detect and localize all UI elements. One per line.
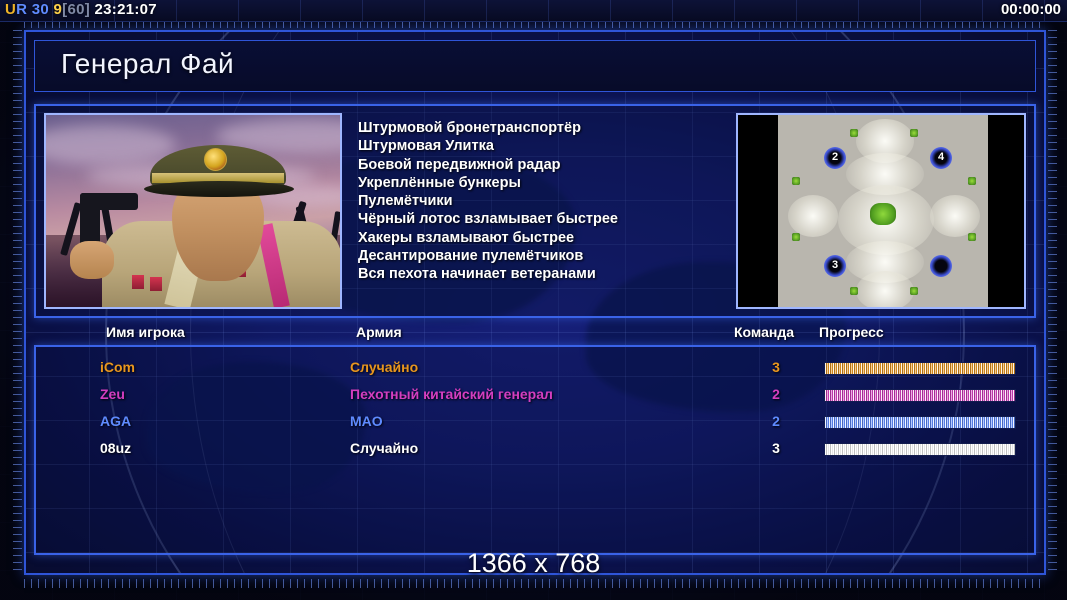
- map-preview: 2 4 3: [736, 113, 1026, 309]
- map-supply-icon: [792, 233, 800, 241]
- player-team: 3: [758, 359, 794, 375]
- topbar-clock: 23:21:07: [95, 1, 157, 18]
- general-info-row: Штурмовой бронетранспортёр Штурмовая Ули…: [34, 104, 1036, 318]
- loading-panel: Генерал Фай: [24, 30, 1046, 575]
- player-table-body: iCom Случайно 3 Zeu Пехотный китайский г…: [34, 345, 1036, 555]
- portrait-medal-1-icon: [132, 275, 144, 289]
- column-header-army: Армия: [356, 324, 402, 340]
- table-row[interactable]: 08uz Случайно 3: [36, 438, 1034, 462]
- map-supply-icon: [968, 233, 976, 241]
- topbar-rank-label: R 30: [16, 1, 49, 18]
- map-start-position[interactable]: [930, 255, 952, 277]
- player-army: MAO: [350, 413, 383, 429]
- general-abilities-list: Штурмовой бронетранспортёр Штурмовая Ули…: [358, 119, 718, 284]
- player-table-header: Имя игрока Армия Команда Прогресс: [34, 324, 1036, 344]
- ability-item: Пулемётчики: [358, 192, 718, 210]
- player-progress-bar: [824, 443, 1016, 456]
- portrait-hand: [70, 241, 114, 279]
- portrait-pistol-barrel-icon: [80, 193, 138, 210]
- progress-fill: [825, 444, 1015, 455]
- column-header-progress: Прогресс: [819, 324, 884, 340]
- player-army: Случайно: [350, 359, 418, 375]
- map-canvas: 2 4 3: [778, 115, 988, 309]
- game-screen: UR 30 9[60] 23:21:07 00:00:00 Генерал Фа…: [0, 0, 1067, 600]
- ability-item: Штурмовая Улитка: [358, 137, 718, 155]
- ability-item: Чёрный лотос взламывает быстрее: [358, 210, 718, 228]
- top-status-bar: UR 30 9[60] 23:21:07 00:00:00: [0, 0, 1067, 22]
- map-terrain-blob: [788, 195, 838, 237]
- player-name: 08uz: [100, 440, 131, 456]
- map-start-position[interactable]: 2: [824, 147, 846, 169]
- player-progress-bar: [824, 389, 1016, 402]
- player-army: Пехотный китайский генерал: [350, 386, 553, 402]
- topbar-bracket-label: [60]: [62, 1, 90, 18]
- progress-fill: [825, 390, 1015, 401]
- map-center-resource-icon: [870, 203, 896, 225]
- map-supply-icon: [792, 177, 800, 185]
- page-title: Генерал Фай: [61, 48, 234, 80]
- portrait-cap-brim: [144, 181, 294, 197]
- topbar-grid-decoration: [0, 0, 1067, 21]
- topbar-left-status: UR 30 9[60] 23:21:07: [5, 1, 157, 18]
- map-supply-icon: [910, 287, 918, 295]
- ability-item: Укреплённые бункеры: [358, 174, 718, 192]
- topbar-u-label: U: [5, 1, 16, 18]
- ability-item: Штурмовой бронетранспортёр: [358, 119, 718, 137]
- portrait-cap-badge-icon: [204, 148, 227, 171]
- progress-fill: [825, 417, 1015, 428]
- ability-item: Боевой передвижной радар: [358, 156, 718, 174]
- panel-title-bar: Генерал Фай: [34, 40, 1036, 92]
- player-progress-bar: [824, 362, 1016, 375]
- topbar-nine-label: 9: [54, 1, 63, 18]
- portrait-medal-2-icon: [150, 277, 162, 291]
- map-start-position[interactable]: 4: [930, 147, 952, 169]
- table-row[interactable]: Zeu Пехотный китайский генерал 2: [36, 384, 1034, 408]
- map-supply-icon: [850, 129, 858, 137]
- player-team: 2: [758, 386, 794, 402]
- progress-fill: [825, 363, 1015, 374]
- player-team: 2: [758, 413, 794, 429]
- ability-item: Хакеры взламывают быстрее: [358, 229, 718, 247]
- map-start-position[interactable]: 3: [824, 255, 846, 277]
- ability-item: Вся пехота начинает ветеранами: [358, 265, 718, 283]
- table-row[interactable]: AGA MAO 2: [36, 411, 1034, 435]
- general-portrait: [44, 113, 342, 309]
- ability-item: Десантирование пулемётчиков: [358, 247, 718, 265]
- map-supply-icon: [850, 287, 858, 295]
- player-army: Случайно: [350, 440, 418, 456]
- player-name: AGA: [100, 413, 131, 429]
- player-name: iCom: [100, 359, 135, 375]
- player-name: Zeu: [100, 386, 125, 402]
- topbar-right-clock: 00:00:00: [1001, 1, 1061, 18]
- map-terrain-blob: [930, 195, 980, 237]
- player-progress-bar: [824, 416, 1016, 429]
- column-header-team: Команда: [734, 324, 794, 340]
- main-window-frame: Генерал Фай: [24, 30, 1046, 575]
- map-terrain-blob: [856, 271, 914, 309]
- map-supply-icon: [910, 129, 918, 137]
- map-supply-icon: [968, 177, 976, 185]
- resolution-label: 1366 x 768: [0, 548, 1067, 579]
- player-team: 3: [758, 440, 794, 456]
- table-row[interactable]: iCom Случайно 3: [36, 357, 1034, 381]
- column-header-player-name: Имя игрока: [106, 324, 185, 340]
